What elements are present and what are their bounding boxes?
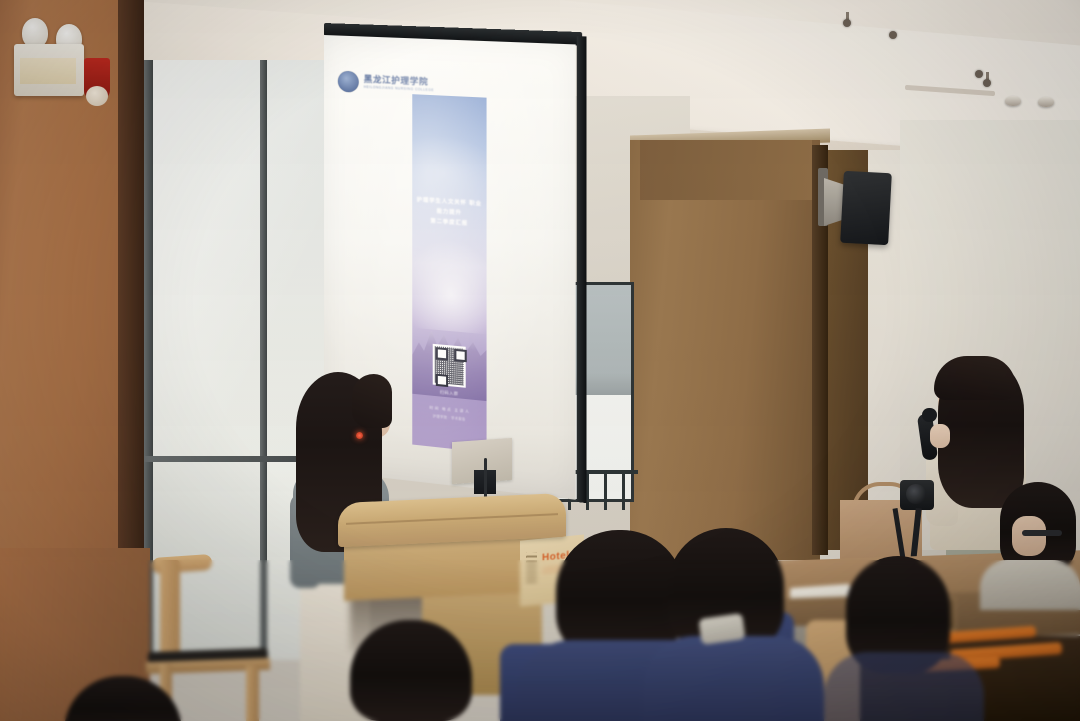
sprinkler-head-icon: [843, 19, 851, 27]
microphone-head: [922, 408, 937, 422]
dome-camera-icon: [1038, 97, 1054, 107]
sprinkler-head-icon: [889, 31, 897, 39]
window-mullion: [260, 60, 267, 660]
speaker-right-hand: [930, 424, 950, 448]
wood-panel-edge: [118, 0, 144, 570]
sprinkler-head-icon: [975, 70, 983, 78]
audience-face: [1012, 516, 1046, 556]
presenter-left-hair-front: [352, 374, 392, 428]
fire-alarm-dome: [86, 86, 108, 106]
eyeglasses-icon: [1022, 530, 1062, 536]
screen-side-rail: [577, 36, 587, 503]
speaker-right-hair-top: [934, 356, 1016, 400]
side-chair-backrest: [160, 560, 180, 656]
lecture-hall-photo: 黑龙江护理学院 HEILONGJIANG NURSING COLLEGE 护理学…: [0, 0, 1080, 721]
audience-head: [350, 620, 472, 721]
side-chair-leg: [246, 666, 259, 721]
sprinkler-head-icon: [983, 79, 991, 87]
dome-camera-icon: [1005, 96, 1021, 106]
camera-lens-icon: [906, 484, 926, 504]
wall-speaker-icon: [840, 171, 892, 245]
emergency-light-label: [20, 58, 76, 84]
audience-shoulders: [824, 652, 984, 721]
red-indicator-light-icon: [356, 432, 363, 439]
lectern-emblem-icon: [526, 552, 537, 582]
emergency-light-unit: [14, 44, 84, 96]
wood-column-center: [630, 140, 820, 560]
wood-column-center-top: [640, 140, 812, 200]
audience-shoulders: [644, 636, 824, 721]
audience-shoulders: [980, 560, 1080, 610]
microphone-gooseneck: [484, 458, 487, 498]
